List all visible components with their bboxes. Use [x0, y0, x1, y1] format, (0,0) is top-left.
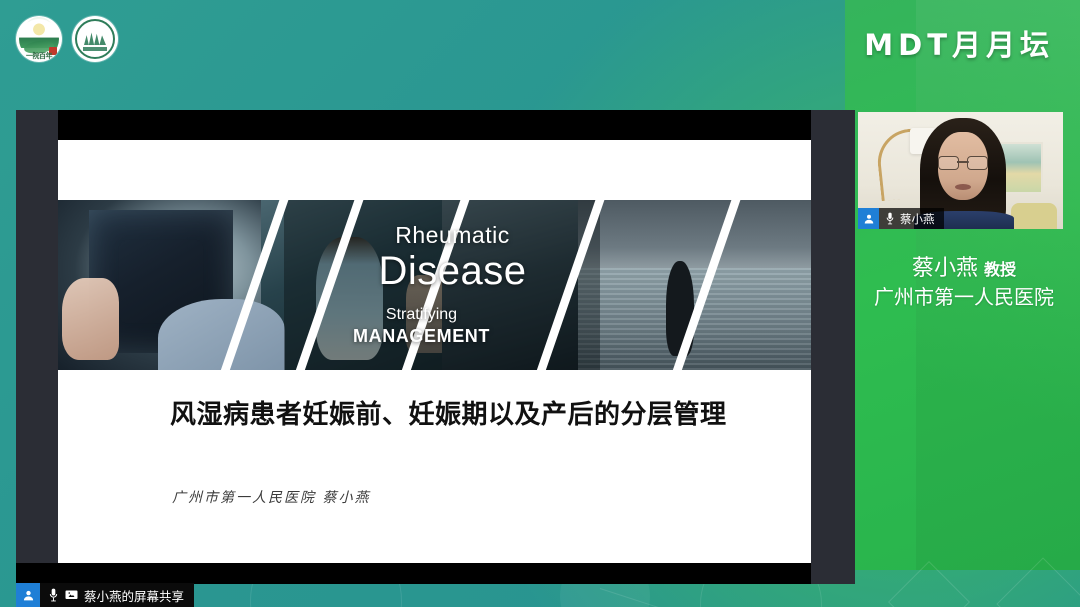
screen-share-label: 蔡小燕的屏幕共享 — [16, 583, 194, 607]
video-name-label-body: 蔡小燕 — [879, 208, 944, 229]
speaker-name: 蔡小燕 — [912, 256, 978, 281]
speaker-title: 教授 — [984, 260, 1016, 279]
speaker-name-row: 蔡小燕教授 — [858, 255, 1070, 283]
video-person-glasses — [938, 156, 988, 168]
screen-share-frame: Rheumatic Disease Stratifying MANAGEMENT… — [16, 110, 855, 584]
banner-line-management: MANAGEMENT — [353, 326, 490, 347]
speaker-organization: 广州市第一人民医院 — [858, 285, 1070, 311]
slide-banner-collage: Rheumatic Disease Stratifying MANAGEMENT — [58, 200, 811, 370]
screen-share-label-text: 蔡小燕的屏幕共享 — [84, 586, 184, 605]
banner-line-disease: Disease — [378, 250, 526, 292]
slide-title: 风湿病患者妊娠前、妊娠期以及产后的分层管理 — [170, 398, 770, 433]
presentation-slide: Rheumatic Disease Stratifying MANAGEMENT… — [58, 140, 811, 563]
logo-group: 一院百年 — [16, 16, 118, 62]
participant-icon — [16, 583, 40, 607]
screen-share-top-letterbox — [58, 110, 811, 140]
banner-text-block: Rheumatic Disease Stratifying MANAGEMENT — [58, 200, 811, 370]
banner-line-stratifying: Stratifying — [386, 306, 457, 324]
webinar-screen: 一院百年 MDT月月坛 — [0, 0, 1080, 607]
speaker-caption: 蔡小燕教授 广州市第一人民医院 — [858, 255, 1070, 311]
slide-subtitle: 广州市第一人民医院 蔡小燕 — [172, 487, 370, 507]
microphone-icon — [885, 212, 895, 225]
video-participant-name: 蔡小燕 — [900, 211, 935, 227]
hospital-logo-left-icon: 一院百年 — [16, 16, 62, 62]
screen-share-label-body: 蔡小燕的屏幕共享 — [40, 583, 194, 607]
banner-line-rheumatic: Rheumatic — [395, 223, 509, 248]
video-person-mouth — [955, 184, 971, 190]
page-title: MDT月月坛 — [864, 22, 1054, 64]
participant-icon — [858, 208, 879, 229]
screen-share-bottom-letterbox — [16, 563, 811, 584]
video-chair — [1011, 203, 1057, 229]
microphone-icon — [48, 588, 59, 602]
video-name-label: 蔡小燕 — [858, 208, 944, 229]
speaker-video-tile[interactable]: 蔡小燕 — [858, 112, 1063, 229]
hospital-logo-right-icon — [72, 16, 118, 62]
screen-share-icon — [65, 590, 78, 601]
logo-left-text: 一院百年 — [16, 51, 62, 61]
logo-right-band — [83, 47, 107, 51]
